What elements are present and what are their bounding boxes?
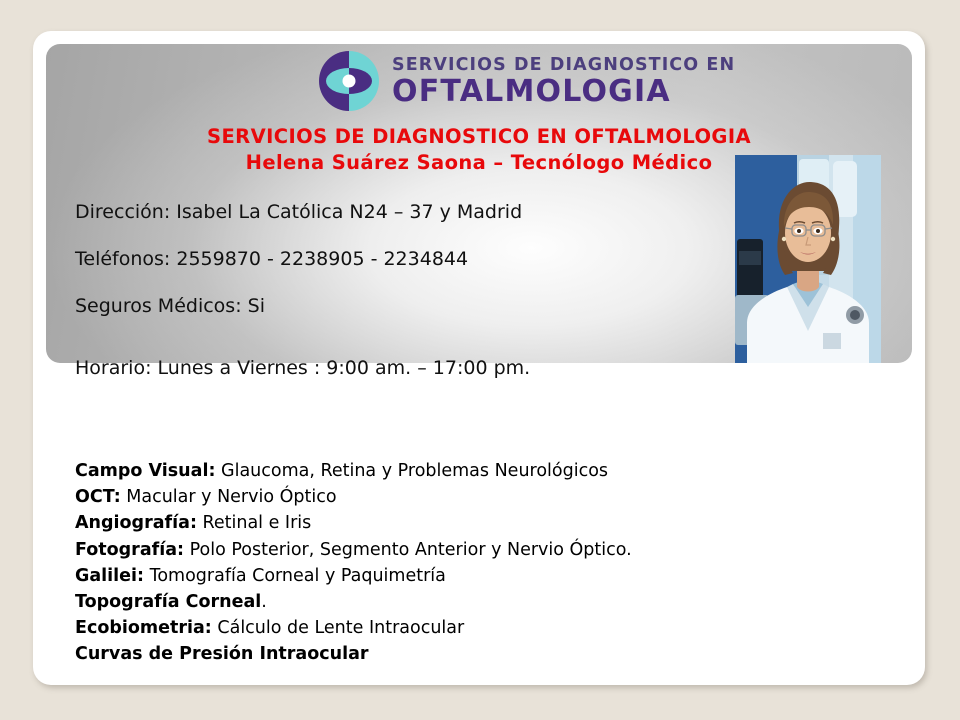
service-text: Tomografía Corneal y Paquimetría [144,566,446,586]
address-line: Dirección: Isabel La Católica N24 – 37 y… [75,201,735,224]
service-text: Glaucoma, Retina y Problemas Neurológico… [215,461,608,481]
service-label: Galilei: [75,566,144,586]
eye-logo-icon [318,50,380,112]
schedule-line: Horario: Lunes a Viernes : 9:00 am. – 17… [75,357,530,380]
logo-block: SERVICIOS DE DIAGNOSTICO EN OFTALMOLOGIA [318,48,738,114]
service-text: Retinal e Iris [197,513,311,533]
services-list: Campo Visual: Glaucoma, Retina y Problem… [75,458,865,668]
list-item: Curvas de Presión Intraocular [75,641,865,667]
list-item: Angiografía: Retinal e Iris [75,510,865,536]
page-title: SERVICIOS DE DIAGNOSTICO EN OFTALMOLOGIA [46,124,912,150]
service-label: OCT: [75,487,121,507]
service-label: Fotografía: [75,540,184,560]
portrait-photo [735,155,881,363]
service-label: Ecobiometria: [75,618,212,638]
service-label: Topografía Corneal [75,592,261,612]
phones-line: Teléfonos: 2559870 - 2238905 - 2234844 [75,248,735,271]
slide-root: SERVICIOS DE DIAGNOSTICO EN OFTALMOLOGIA… [0,0,960,720]
logo-text-line1: SERVICIOS DE DIAGNOSTICO EN [392,57,735,75]
logo-text-line2: OFTALMOLOGIA [392,77,735,107]
list-item: OCT: Macular y Nervio Óptico [75,484,865,510]
service-text: Polo Posterior, Segmento Anterior y Nerv… [184,540,632,560]
list-item: Galilei: Tomografía Corneal y Paquimetrí… [75,563,865,589]
service-label: Angiografía: [75,513,197,533]
service-text: . [261,592,267,612]
list-item: Topografía Corneal. [75,589,865,615]
logo-wordmark: SERVICIOS DE DIAGNOSTICO EN OFTALMOLOGIA [392,55,735,107]
service-label: Curvas de Presión Intraocular [75,644,369,664]
service-text: Macular y Nervio Óptico [121,487,337,507]
service-label: Campo Visual: [75,461,215,481]
list-item: Ecobiometria: Cálculo de Lente Intraocul… [75,615,865,641]
list-item: Campo Visual: Glaucoma, Retina y Problem… [75,458,865,484]
list-item: Fotografía: Polo Posterior, Segmento Ant… [75,537,865,563]
contact-info-block: Dirección: Isabel La Católica N24 – 37 y… [75,201,735,318]
service-text: Cálculo de Lente Intraocular [212,618,464,638]
insurance-line: Seguros Médicos: Si [75,295,735,318]
